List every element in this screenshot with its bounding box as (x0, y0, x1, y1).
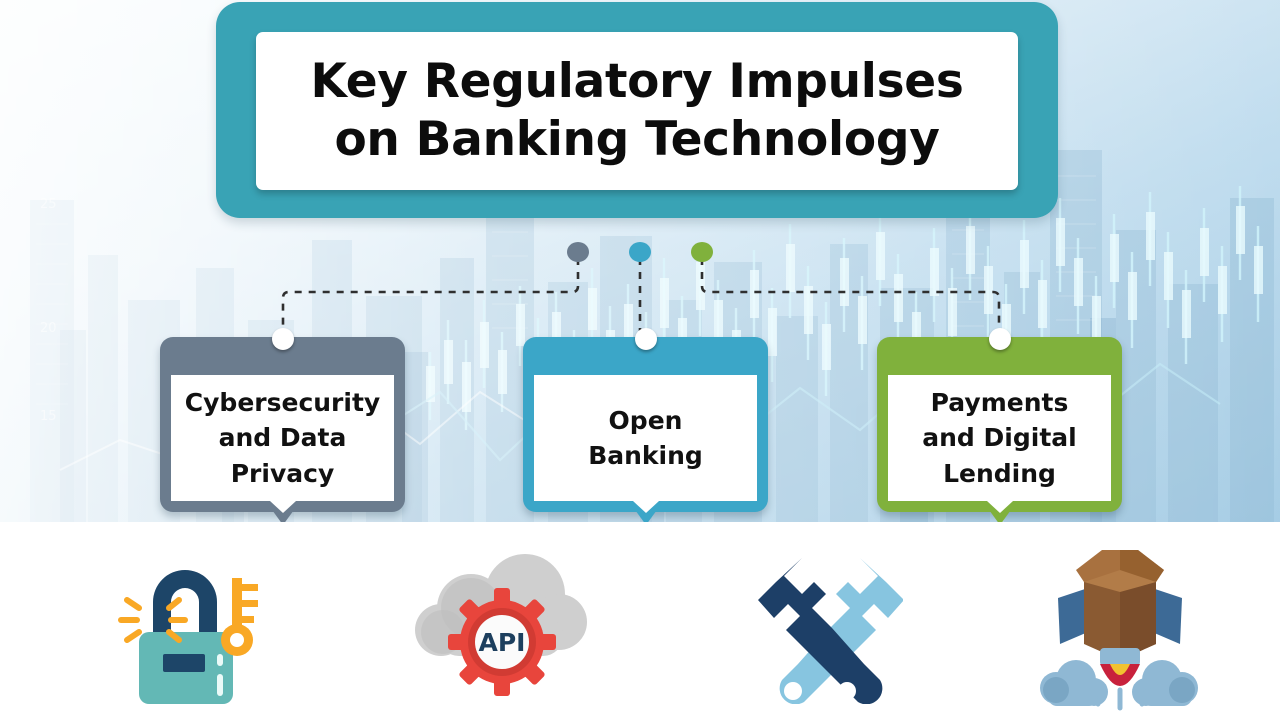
card-tail-inner-cybersecurity (270, 501, 296, 513)
crossed-wrenches-icon (738, 544, 903, 704)
card-label-line-2: Banking (588, 438, 703, 474)
node-dot-open-banking[interactable] (629, 242, 651, 262)
card-cybersecurity[interactable]: Cybersecurity and Data Privacy (160, 337, 405, 512)
card-label-line-1: Cybersecurity (185, 385, 380, 421)
card-panel-payments: Payments and Digital Lending (888, 375, 1111, 501)
rocket-box-icon (1030, 536, 1210, 711)
card-label-line-3: Lending (922, 456, 1076, 492)
card-label-line-2: and Digital (922, 420, 1076, 456)
card-pin-cybersecurity (272, 328, 294, 350)
card-label-cybersecurity: Cybersecurity and Data Privacy (185, 385, 380, 492)
card-tail-inner-payments (987, 501, 1013, 513)
icon-slot-api-cloud: API (400, 536, 600, 711)
card-panel-open-banking: Open Banking (534, 375, 757, 501)
card-label-open-banking: Open Banking (588, 403, 703, 474)
connector-path-cybersecurity (283, 258, 578, 336)
infographic-canvas: 25 20 15 (0, 0, 1280, 720)
card-panel-cybersecurity: Cybersecurity and Data Privacy (171, 375, 394, 501)
padlock-key-icon (105, 544, 265, 704)
icon-slot-padlock (85, 536, 285, 711)
card-open-banking[interactable]: Open Banking (523, 337, 768, 512)
card-label-line-2: and Data (185, 420, 380, 456)
card-tail-inner-open-banking (633, 501, 659, 513)
card-pin-payments (989, 328, 1011, 350)
node-dot-cybersecurity[interactable] (567, 242, 589, 262)
icon-row: API (0, 522, 1280, 720)
card-pin-open-banking (635, 328, 657, 350)
api-gear-label: API (478, 628, 525, 657)
icon-slot-wrenches (720, 536, 920, 711)
node-dot-payments[interactable] (691, 242, 713, 262)
card-payments[interactable]: Payments and Digital Lending (877, 337, 1122, 512)
card-label-line-3: Privacy (185, 456, 380, 492)
card-label-line-1: Payments (922, 385, 1076, 421)
icon-slot-rocket (1020, 536, 1220, 711)
card-label-line-1: Open (588, 403, 703, 439)
api-cloud-gear-icon: API (413, 546, 588, 701)
card-label-payments: Payments and Digital Lending (922, 385, 1076, 492)
connector-path-payments (702, 258, 999, 336)
